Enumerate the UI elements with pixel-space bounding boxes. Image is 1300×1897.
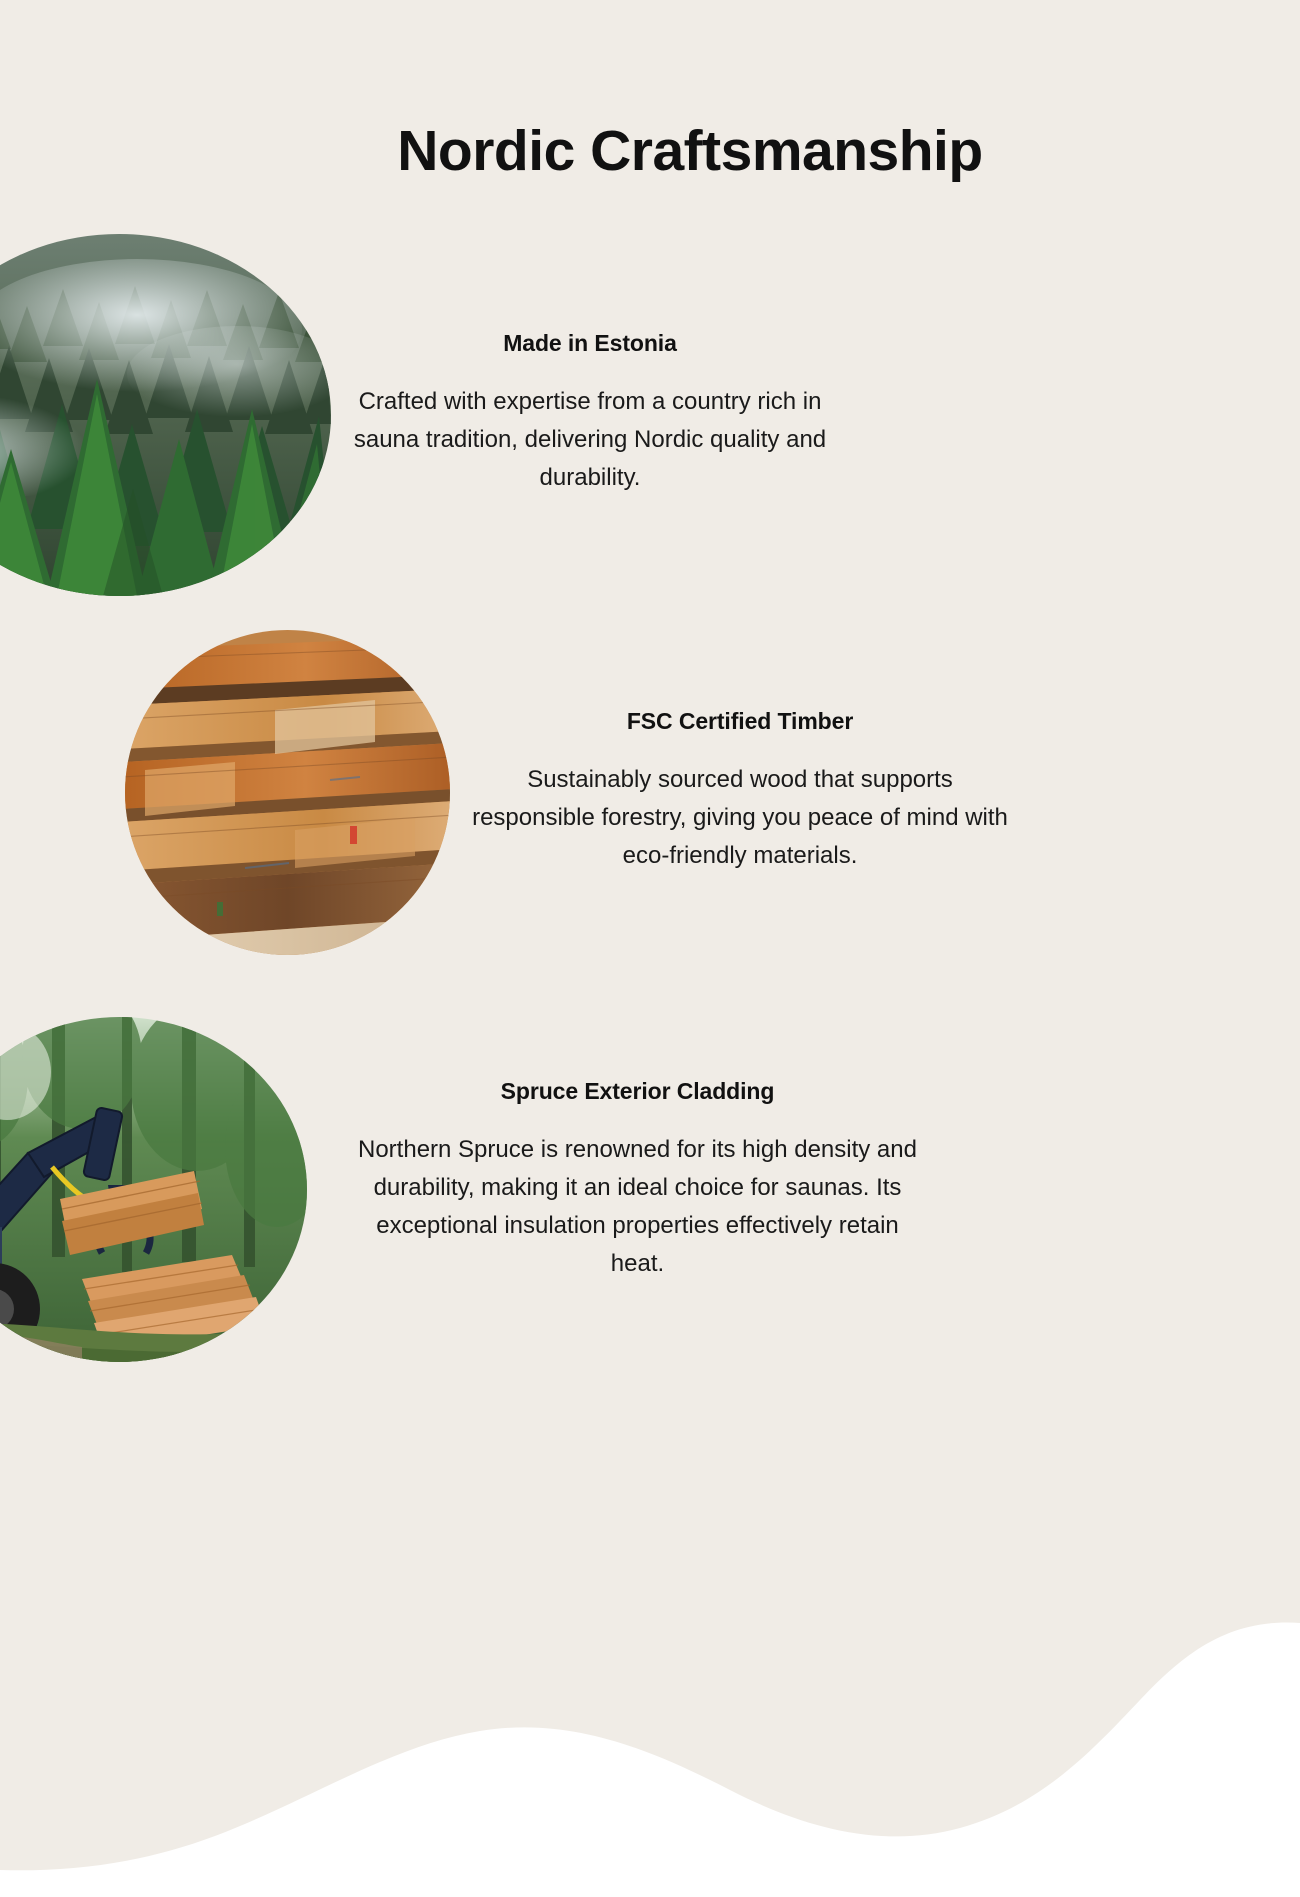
feature-heading: FSC Certified Timber — [470, 708, 1010, 735]
feature-heading: Spruce Exterior Cladding — [355, 1078, 920, 1105]
feature-heading: Made in Estonia — [345, 330, 835, 357]
page-title: Nordic Craftsmanship — [0, 118, 1300, 184]
feature-block-made-in-estonia: Made in Estonia Crafted with expertise f… — [345, 330, 835, 497]
feature-body: Sustainably sourced wood that supports r… — [470, 761, 1010, 875]
feature-body: Northern Spruce is renowned for its high… — [355, 1131, 920, 1283]
feature-block-spruce-exterior-cladding: Spruce Exterior Cladding Northern Spruce… — [355, 1078, 920, 1283]
stacked-sawn-timber-photo — [125, 630, 450, 955]
infographic-page: Nordic Craftsmanship — [0, 0, 1300, 1897]
feature-body: Crafted with expertise from a country ri… — [345, 383, 835, 497]
feature-block-fsc-certified-timber: FSC Certified Timber Sustainably sourced… — [470, 708, 1010, 875]
